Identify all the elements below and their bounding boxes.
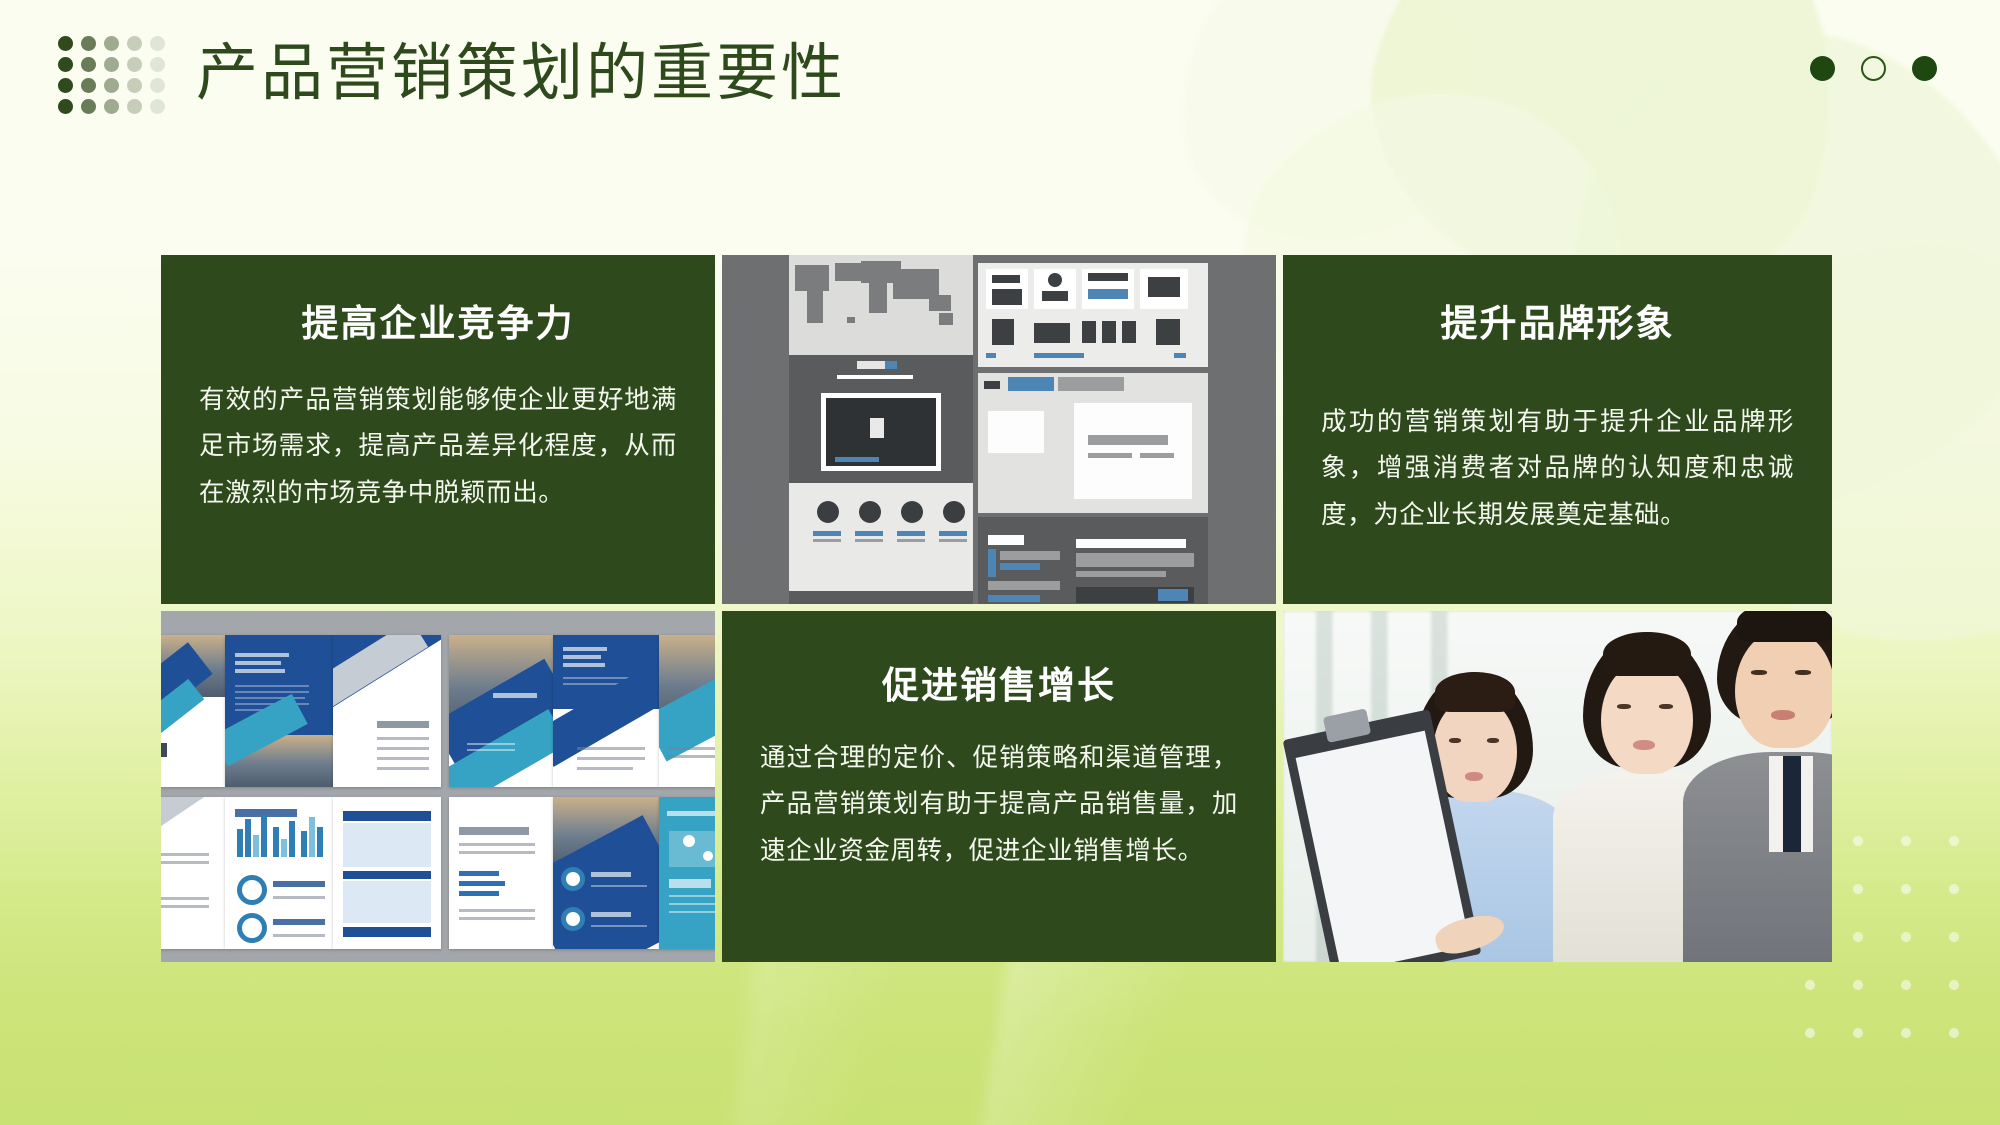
card-body: 有效的产品营销策划能够使企业更好地满足市场需求，提高产品差异化程度，从而在激烈的… [199, 377, 677, 516]
grid-gutter [161, 604, 715, 611]
infographic-bottom-strip [789, 591, 973, 604]
brochure-page [449, 797, 553, 949]
grid-gutter [1276, 611, 1283, 962]
brochure-page [161, 635, 225, 787]
brochure-page [225, 797, 333, 949]
pagination-dots[interactable] [1810, 56, 1937, 81]
card-title: 促进销售增长 [760, 655, 1238, 709]
person-3 [1683, 611, 1832, 962]
brochure-page [553, 797, 659, 949]
stationery-mockup [978, 373, 1208, 513]
monitor-mockup [821, 393, 941, 471]
brochure-page [333, 635, 441, 787]
pagination-dot-2[interactable] [1861, 56, 1886, 81]
persona-icon-3 [897, 501, 927, 542]
brochure-page [225, 635, 333, 787]
card-body: 成功的营销策划有助于提升企业品牌形象，增强消费者对品牌的认知度和忠诚度，为企业长… [1321, 399, 1794, 538]
grid-gutter [715, 611, 722, 962]
brochure-page [161, 797, 225, 949]
image-brochure [161, 611, 715, 962]
grid-gutter [715, 255, 722, 604]
grid-gutter [722, 604, 1276, 611]
grid-gutter [715, 604, 722, 611]
persona-icon-4 [939, 501, 969, 542]
pagination-dot-1[interactable] [1810, 56, 1835, 81]
grid-gutter [1276, 255, 1283, 604]
icon-panel [978, 263, 1208, 367]
image-team-photo [1283, 611, 1832, 962]
brochure-page [659, 797, 715, 949]
pagination-dot-3[interactable] [1912, 56, 1937, 81]
world-map-graphic [789, 255, 973, 355]
brochure-page [553, 635, 659, 787]
card-competitiveness[interactable]: 提高企业竞争力 有效的产品营销策划能够使企业更好地满足市场需求，提高产品差异化程… [161, 255, 715, 604]
chart-mockup [978, 517, 1208, 604]
card-body: 通过合理的定价、促销策略和渠道管理，产品营销策划有助于提高产品销售量，加速企业资… [760, 735, 1238, 874]
card-sales-growth[interactable]: 促进销售增长 通过合理的定价、促销策略和渠道管理，产品营销策划有助于提高产品销售… [722, 611, 1276, 962]
slide-header: 产品营销策划的重要性 [0, 0, 2000, 170]
brochure-page [449, 635, 553, 787]
content-grid: 提高企业竞争力 有效的产品营销策划能够使企业更好地满足市场需求，提高产品差异化程… [161, 255, 1832, 962]
infographic-right-column [978, 255, 1208, 604]
page-title: 产品营销策划的重要性 [196, 40, 846, 108]
pin-marker-accent [885, 361, 897, 369]
infographic-left-column [789, 255, 973, 604]
image-infographic [722, 255, 1276, 604]
grid-gutter [1276, 604, 1283, 611]
persona-icon-2 [855, 501, 885, 542]
slide-canvas: 产品营销策划的重要性 提高企业竞争力 有效的产品营销策划能够使企业更好地满足市场… [0, 0, 2000, 1125]
card-brand-image[interactable]: 提升品牌形象 成功的营销策划有助于提升企业品牌形象，增强消费者对品牌的认知度和忠… [1283, 255, 1832, 604]
brochure-page [333, 797, 441, 949]
dot-grid-decoration [58, 36, 173, 120]
grid-gutter [1283, 604, 1832, 611]
pin-base-line [837, 375, 913, 379]
card-title: 提升品牌形象 [1321, 293, 1794, 347]
brochure-page [659, 635, 715, 787]
card-title: 提高企业竞争力 [199, 293, 677, 347]
persona-icon-1 [813, 501, 843, 542]
